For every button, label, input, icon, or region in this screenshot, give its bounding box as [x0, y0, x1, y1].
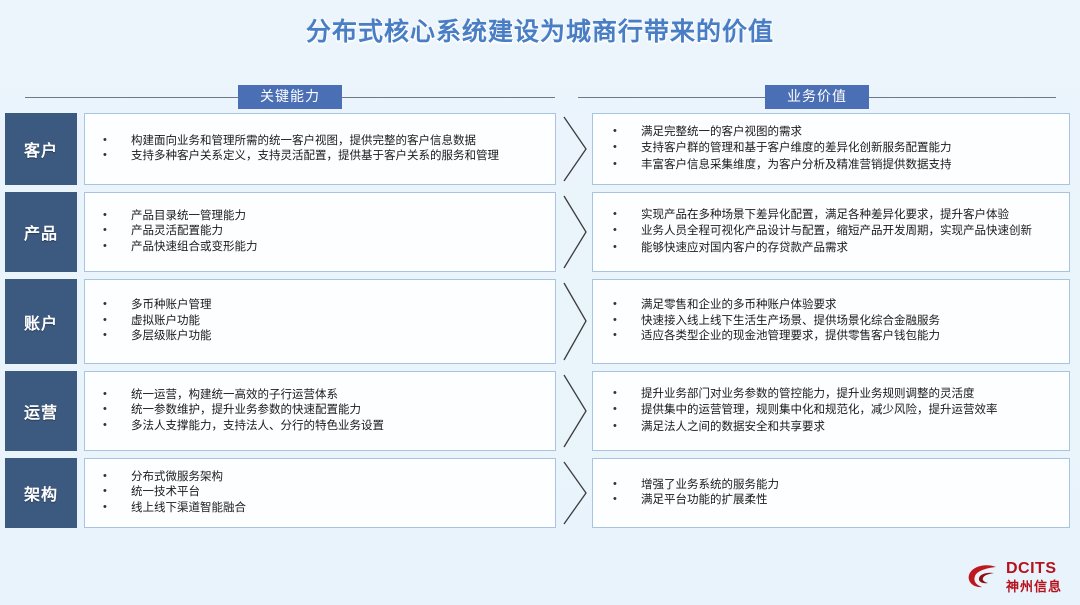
list-item: 能够快速应对国内客户的存贷款产品需求: [607, 243, 1059, 255]
chevron-right-icon: [560, 113, 592, 185]
list-item: 产品快速组合或变形能力: [97, 242, 547, 254]
table-row: 架构 分布式微服务架构 统一技术平台 线上线下渠道智能融合 增强了业务系统的服务…: [0, 458, 1080, 528]
column-header-right-label: 业务价值: [765, 85, 869, 109]
list-item: 产品目录统一管理能力: [97, 211, 547, 223]
list-item: 实现产品在多种场景下差异化配置，满足各种差异化要求，提升客户体验: [607, 210, 1059, 222]
row-tag-architecture: 架构: [5, 458, 77, 528]
list-item: 快速接入线上线下生活生产场景、提供场景化综合金融服务: [607, 316, 1059, 328]
column-headers: 关键能力 业务价值: [0, 84, 1080, 110]
list-item: 构建面向业务和管理所需的统一客户视图，提供完整的客户信息数据: [97, 136, 547, 148]
list-item: 多层级账户功能: [97, 331, 547, 343]
chevron-right-icon: [560, 458, 592, 528]
value-list: 增强了业务系统的服务能力 满足平台功能的扩展柔性: [607, 476, 1059, 511]
column-header-key-capability: 关键能力: [25, 84, 555, 110]
value-box-customer: 满足完整统一的客户视图的需求 支持客户群的管理和基于客户维度的差异化创新服务配置…: [592, 113, 1070, 185]
company-logo: DCITS 神州信息: [966, 561, 1062, 593]
capability-box-operation: 统一运营，构建统一高效的子行运营体系 统一参数维护，提升业务参数的快速配置能力 …: [84, 371, 556, 451]
header-rule-left-2: [342, 97, 555, 98]
table-row: 产品 产品目录统一管理能力 产品灵活配置能力 产品快速组合或变形能力 实现产品在…: [0, 192, 1080, 272]
capability-list: 多币种账户管理 虚拟账户功能 多层级账户功能: [97, 296, 547, 347]
list-item: 增强了业务系统的服务能力: [607, 480, 1059, 492]
page-title: 分布式核心系统建设为城商行带来的价值: [306, 12, 774, 48]
list-item: 虚拟账户功能: [97, 316, 547, 328]
row-tag-operation: 运营: [5, 371, 77, 451]
value-list: 提升业务部门对业务参数的管控能力，提升业务规则调整的灵活度 提供集中的运营管理，…: [607, 384, 1059, 439]
header-rule-right-2: [869, 97, 1056, 98]
value-list: 实现产品在多种场景下差异化配置，满足各种差异化要求，提升客户体验 业务人员全程可…: [607, 205, 1059, 260]
list-item: 产品灵活配置能力: [97, 226, 547, 238]
slide-canvas: 分布式核心系统建设为城商行带来的价值 关键能力 业务价值 客户 构建面向业务和管…: [0, 0, 1080, 605]
capability-box-product: 产品目录统一管理能力 产品灵活配置能力 产品快速组合或变形能力: [84, 192, 556, 272]
list-item: 统一技术平台: [97, 487, 547, 499]
capability-box-customer: 构建面向业务和管理所需的统一客户视图，提供完整的客户信息数据 支持多种客户关系定…: [84, 113, 556, 185]
capability-list: 分布式微服务架构 统一技术平台 线上线下渠道智能融合: [97, 468, 547, 519]
capability-list: 产品目录统一管理能力 产品灵活配置能力 产品快速组合或变形能力: [97, 207, 547, 258]
table-row: 账户 多币种账户管理 虚拟账户功能 多层级账户功能 满足零售和企业的多币种账户体…: [0, 279, 1080, 364]
list-item: 适应各类型企业的现金池管理要求，提供零售客户钱包能力: [607, 331, 1059, 343]
list-item: 统一参数维护，提升业务参数的快速配置能力: [97, 405, 547, 417]
row-tag-customer: 客户: [5, 113, 77, 185]
value-list: 满足完整统一的客户视图的需求 支持客户群的管理和基于客户维度的差异化创新服务配置…: [607, 122, 1059, 177]
logo-name-cn: 神州信息: [1006, 580, 1062, 593]
capability-list: 统一运营，构建统一高效的子行运营体系 统一参数维护，提升业务参数的快速配置能力 …: [97, 386, 547, 437]
list-item: 提供集中的运营管理，规则集中化和规范化，减少风险，提升运营效率: [607, 405, 1059, 417]
list-item: 多法人支撑能力，支持法人、分行的特色业务设置: [97, 421, 547, 433]
logo-name-en: DCITS: [1006, 561, 1062, 577]
chevron-right-icon: [560, 279, 592, 364]
list-item: 满足零售和企业的多币种账户体验要求: [607, 300, 1059, 312]
table-row: 运营 统一运营，构建统一高效的子行运营体系 统一参数维护，提升业务参数的快速配置…: [0, 371, 1080, 451]
list-item: 支持多种客户关系定义，支持灵活配置，提供基于客户关系的服务和管理: [97, 151, 547, 163]
list-item: 线上线下渠道智能融合: [97, 503, 547, 515]
table-row: 客户 构建面向业务和管理所需的统一客户视图，提供完整的客户信息数据 支持多种客户…: [0, 113, 1080, 185]
list-item: 满足完整统一的客户视图的需求: [607, 127, 1059, 139]
capability-list: 构建面向业务和管理所需的统一客户视图，提供完整的客户信息数据 支持多种客户关系定…: [97, 132, 547, 167]
list-item: 提升业务部门对业务参数的管控能力，提升业务规则调整的灵活度: [607, 389, 1059, 401]
value-list: 满足零售和企业的多币种账户体验要求 快速接入线上线下生活生产场景、提供场景化综合…: [607, 296, 1059, 347]
value-box-account: 满足零售和企业的多币种账户体验要求 快速接入线上线下生活生产场景、提供场景化综合…: [592, 279, 1070, 364]
row-tag-account: 账户: [5, 279, 77, 364]
value-box-product: 实现产品在多种场景下差异化配置，满足各种差异化要求，提升客户体验 业务人员全程可…: [592, 192, 1070, 272]
chevron-right-icon: [560, 371, 592, 451]
list-item: 分布式微服务架构: [97, 472, 547, 484]
row-tag-product: 产品: [5, 192, 77, 272]
value-box-operation: 提升业务部门对业务参数的管控能力，提升业务规则调整的灵活度 提供集中的运营管理，…: [592, 371, 1070, 451]
capability-box-architecture: 分布式微服务架构 统一技术平台 线上线下渠道智能融合: [84, 458, 556, 528]
header-rule-left: [25, 97, 238, 98]
list-item: 多币种账户管理: [97, 300, 547, 312]
matrix-rows: 客户 构建面向业务和管理所需的统一客户视图，提供完整的客户信息数据 支持多种客户…: [0, 113, 1080, 535]
logo-text: DCITS 神州信息: [1006, 561, 1062, 593]
slide-title-container: 分布式核心系统建设为城商行带来的价值: [0, 12, 1080, 48]
value-box-architecture: 增强了业务系统的服务能力 满足平台功能的扩展柔性: [592, 458, 1070, 528]
list-item: 满足法人之间的数据安全和共享要求: [607, 422, 1059, 434]
list-item: 丰富客户信息采集维度，为客户分析及精准营销提供数据支持: [607, 160, 1059, 172]
column-header-left-label: 关键能力: [238, 85, 342, 109]
list-item: 统一运营，构建统一高效的子行运营体系: [97, 390, 547, 402]
capability-box-account: 多币种账户管理 虚拟账户功能 多层级账户功能: [84, 279, 556, 364]
list-item: 满足平台功能的扩展柔性: [607, 495, 1059, 507]
chevron-right-icon: [560, 192, 592, 272]
dcits-swoosh-icon: [966, 562, 1000, 592]
header-rule-right: [578, 97, 765, 98]
list-item: 支持客户群的管理和基于客户维度的差异化创新服务配置能力: [607, 143, 1059, 155]
list-item: 业务人员全程可视化产品设计与配置，缩短产品开发周期，实现产品快速创新: [607, 226, 1059, 238]
column-header-business-value: 业务价值: [578, 84, 1056, 110]
